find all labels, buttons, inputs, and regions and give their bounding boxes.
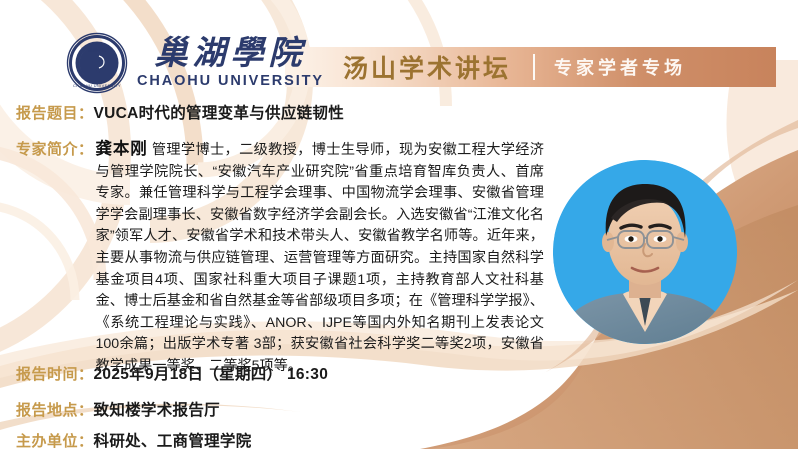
report-time-value: 2025年9月18日（星期四） 16:30: [94, 362, 329, 384]
speaker-bio-label: 专家简介：: [16, 139, 94, 161]
speaker-portrait-photo: [553, 160, 737, 344]
report-title-label: 报告题目：: [16, 102, 94, 123]
report-organizer-row: 主办单位： 科研处、工商管理学院: [16, 429, 252, 449]
speaker-bio-text: 龚本刚 管理学博士，二级教授，博士生导师，现为安徽工程大学经济与管理学院院长、“…: [16, 139, 544, 378]
report-organizer-value: 科研处、工商管理学院: [94, 429, 252, 449]
banner-divider: [533, 54, 535, 80]
university-logo-block: 巢湖學院 CHAOHU UNIVERSITY 巢湖學院 CHAOHU UNIVE…: [66, 32, 324, 94]
university-name-cn: 巢湖學院: [154, 37, 306, 72]
report-time-row: 报告时间： 2025年9月18日（星期四） 16:30: [16, 362, 328, 384]
speaker-bio-block: 专家简介： 龚本刚 管理学博士，二级教授，博士生导师，现为安徽工程大学经济与管理…: [16, 139, 544, 378]
speaker-name: 龚本刚: [96, 140, 148, 158]
seminar-poster: 巢湖學院 CHAOHU UNIVERSITY 巢湖學院 CHAOHU UNIVE…: [0, 0, 798, 449]
report-title-value: VUCA时代的管理变革与供应链韧性: [94, 101, 345, 123]
banner-main-title: 汤山学术讲坛: [343, 49, 511, 85]
svg-text:巢湖學院: 巢湖學院: [88, 47, 107, 54]
report-title-row: 报告题目： VUCA时代的管理变革与供应链韧性: [16, 101, 344, 123]
svg-text:CHAOHU UNIVERSITY: CHAOHU UNIVERSITY: [73, 83, 121, 88]
report-place-value: 致知楼学术报告厅: [94, 398, 220, 420]
forum-banner: 汤山学术讲坛 专家学者专场: [285, 47, 776, 87]
speaker-bio-paragraph: 管理学博士，二级教授，博士生导师，现为安徽工程大学经济与管理学院院长、“安徽汽车…: [96, 142, 544, 374]
banner-subtitle: 专家学者专场: [554, 54, 686, 80]
report-organizer-label: 主办单位：: [16, 430, 94, 449]
university-name-en: CHAOHU UNIVERSITY: [137, 73, 324, 89]
report-time-label: 报告时间：: [16, 363, 94, 384]
report-place-row: 报告地点： 致知楼学术报告厅: [16, 398, 220, 420]
chaohu-university-emblem-icon: 巢湖學院 CHAOHU UNIVERSITY: [66, 32, 128, 94]
report-place-label: 报告地点：: [16, 399, 94, 420]
